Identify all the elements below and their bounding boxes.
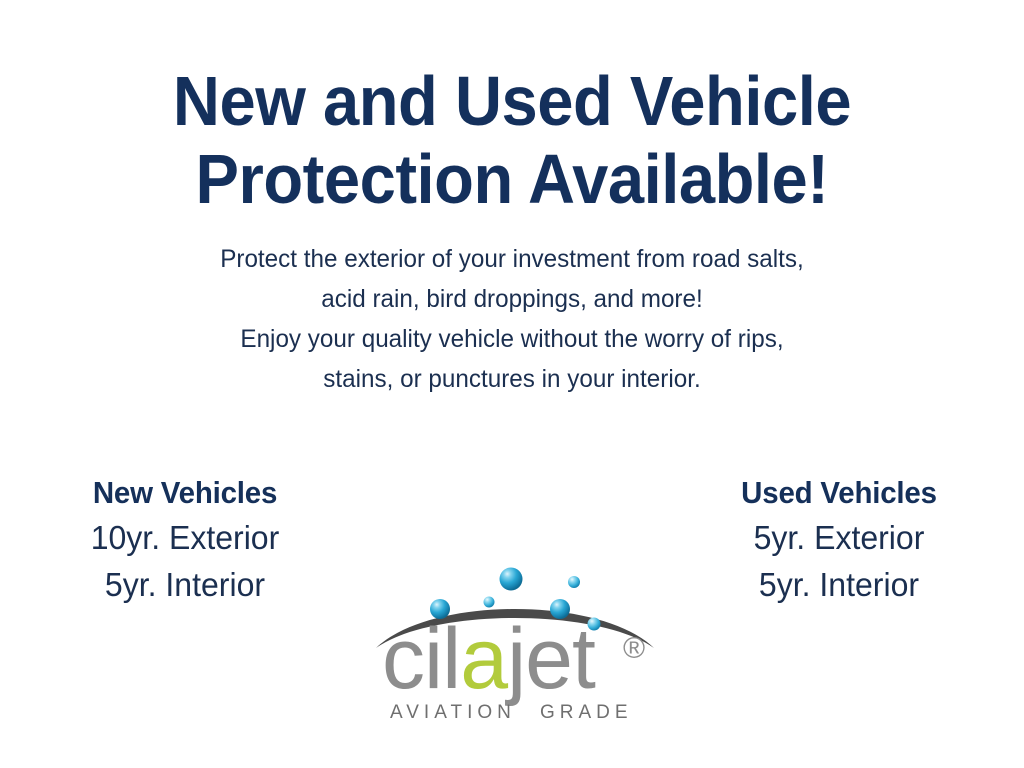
column-used-vehicles: Used Vehicles 5yr. Exterior 5yr. Interio… bbox=[654, 472, 1024, 608]
logo-wordmark: cilajet bbox=[382, 611, 596, 707]
logo-bead-large-top bbox=[500, 568, 523, 591]
logo-registered-icon: ® bbox=[623, 632, 645, 665]
logo-wordmark-suffix: jet bbox=[504, 611, 596, 707]
slide-canvas: New and Used Vehicle Protection Availabl… bbox=[0, 0, 1024, 768]
logo-tagline-right: GRADE bbox=[540, 702, 633, 723]
headline-line-1: New and Used Vehicle bbox=[36, 62, 988, 140]
logo-bead-small-mid bbox=[484, 597, 495, 608]
body-line-1: Protect the exterior of your investment … bbox=[15, 239, 1008, 279]
body-line-4: stains, or punctures in your interior. bbox=[15, 359, 1008, 399]
column-used-item-interior: 5yr. Interior bbox=[660, 561, 1019, 608]
logo-bead-small-upper-right bbox=[568, 576, 580, 588]
column-used-item-exterior: 5yr. Exterior bbox=[660, 514, 1019, 561]
body-copy: Protect the exterior of your investment … bbox=[15, 239, 1008, 399]
column-new-item-interior: 5yr. Interior bbox=[6, 561, 365, 608]
logo-tagline-left: AVIATION bbox=[390, 702, 516, 723]
column-new-heading: New Vehicles bbox=[9, 472, 361, 514]
column-new-vehicles: New Vehicles 10yr. Exterior 5yr. Interio… bbox=[0, 472, 370, 608]
page-title: New and Used Vehicle Protection Availabl… bbox=[36, 62, 988, 218]
logo-wordmark-prefix: cil bbox=[382, 611, 460, 707]
headline-line-2: Protection Available! bbox=[36, 140, 988, 218]
column-new-item-exterior: 10yr. Exterior bbox=[6, 514, 365, 561]
logo-wordmark-accent: a bbox=[460, 611, 508, 707]
body-line-3: Enjoy your quality vehicle without the w… bbox=[15, 319, 1008, 359]
cilajet-logo: cilajet ® AVIATION GRADE bbox=[370, 552, 660, 732]
body-line-2: acid rain, bird droppings, and more! bbox=[15, 279, 1008, 319]
column-used-heading: Used Vehicles bbox=[663, 472, 1015, 514]
